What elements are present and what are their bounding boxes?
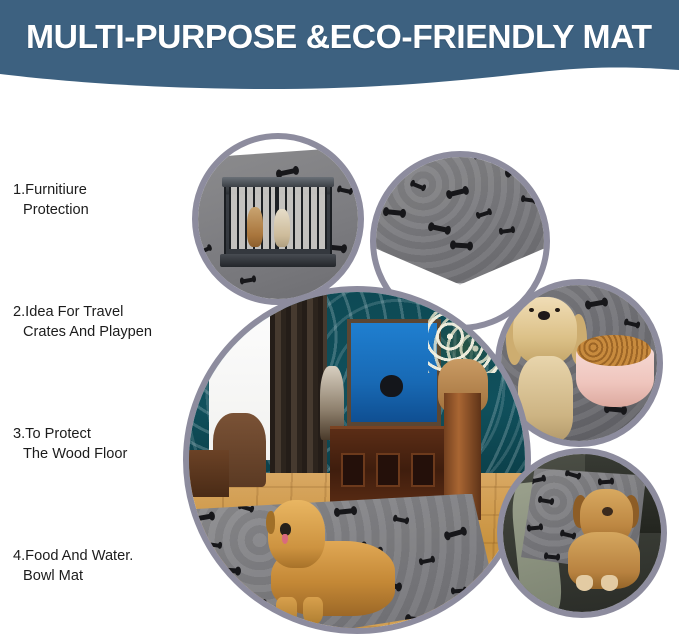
photo-circle-living-room <box>183 286 531 634</box>
golden-retriever <box>263 500 397 621</box>
side-table <box>189 450 229 497</box>
crate-dog-left <box>247 207 264 247</box>
header-banner: MULTI-PURPOSE &ECO-FRIENDLY MAT <box>0 0 679 100</box>
crate-roof <box>222 177 334 187</box>
crate-cage <box>224 181 333 261</box>
product-infographic: MULTI-PURPOSE &ECO-FRIENDLY MAT 1.Furnit… <box>0 0 679 642</box>
photo-circle-car-seat <box>497 448 667 618</box>
crate-tray <box>220 254 335 267</box>
puppy-on-car-seat <box>566 489 645 587</box>
photo-circle-crate <box>192 133 364 305</box>
page-title: MULTI-PURPOSE &ECO-FRIENDLY MAT <box>26 18 669 56</box>
living-room-scene <box>189 292 525 628</box>
kibble <box>577 335 650 366</box>
car-seat-scene <box>503 454 661 612</box>
photo-collage <box>0 96 679 642</box>
crate-dog-right <box>274 209 290 247</box>
crate-scene <box>198 139 358 299</box>
curtain <box>270 292 327 487</box>
